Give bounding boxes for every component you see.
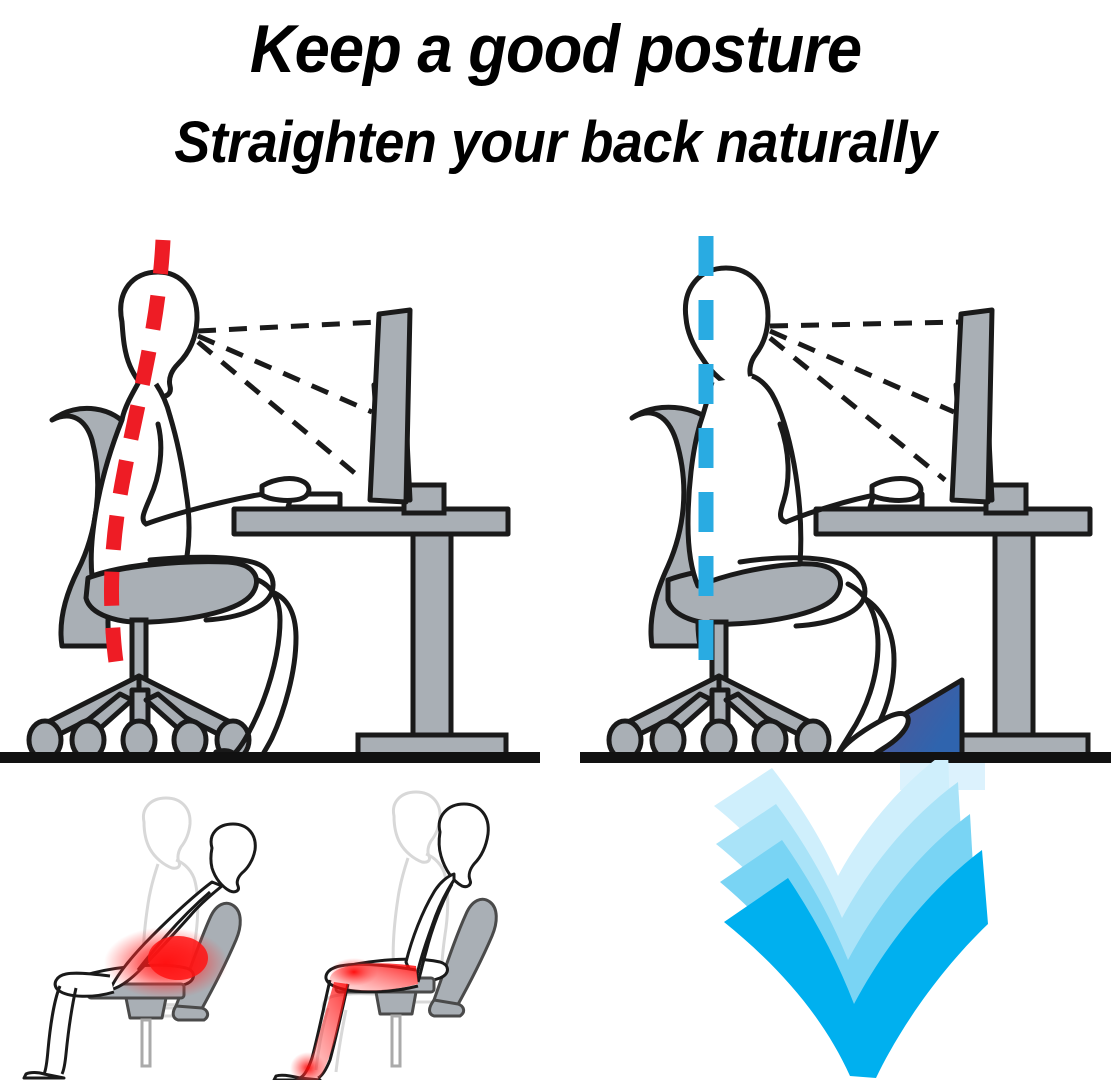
blue-checkmark — [710, 760, 1040, 1080]
pain-core-knee — [330, 958, 378, 986]
posture-comparison-scene — [0, 0, 1111, 790]
monitor-left — [370, 310, 444, 513]
floor-line-left — [0, 752, 540, 763]
pain-core-lower-back — [148, 936, 208, 980]
desk-left — [234, 509, 508, 755]
bad-posture-panel — [0, 240, 540, 763]
inset-lower-back-pain — [14, 780, 269, 1080]
sight-lines-right — [770, 322, 960, 480]
monitor-right — [952, 310, 1026, 513]
sight-lines-left — [198, 322, 378, 480]
inset-leg-pain — [268, 780, 523, 1080]
ergonomics-poster: Keep a good posture Straighten your back… — [0, 0, 1111, 1082]
good-posture-panel — [580, 236, 1111, 790]
